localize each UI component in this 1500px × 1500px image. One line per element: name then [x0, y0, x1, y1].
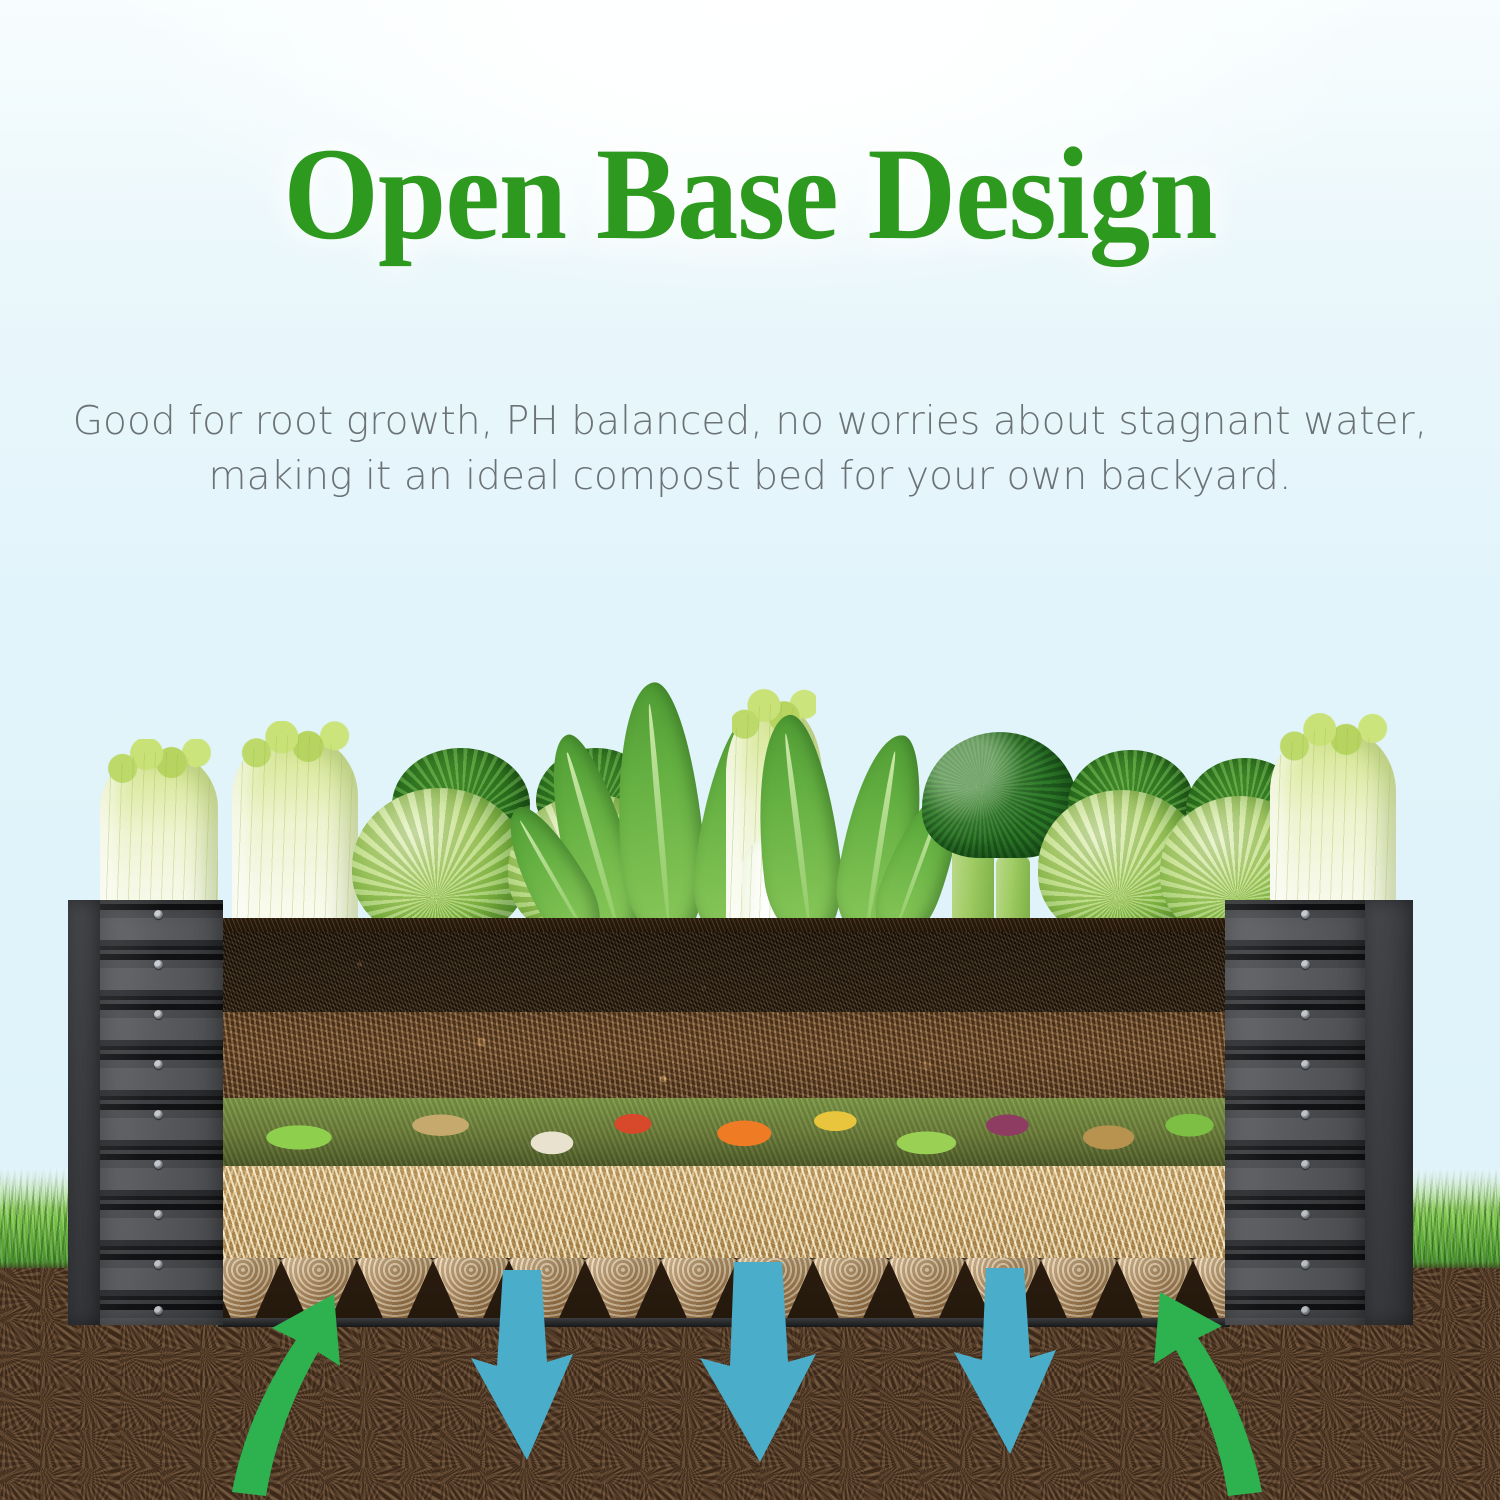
screw-icon [154, 1306, 163, 1315]
soil-layer-kitchen-scraps [218, 1098, 1230, 1166]
drainage-arrow-down-1 [455, 1270, 585, 1500]
soil-layer-straw [218, 1166, 1230, 1258]
screw-icon [154, 1110, 163, 1119]
drainage-arrow-down-3 [940, 1268, 1070, 1498]
screw-icon [1301, 1210, 1310, 1219]
corner-post-left-face [100, 900, 223, 1325]
corner-post-right-face [1225, 900, 1367, 1325]
screw-icon [154, 910, 163, 919]
soil-layer-compost [218, 1012, 1230, 1098]
screw-icon [154, 1260, 163, 1269]
screw-icon [1301, 1060, 1310, 1069]
screw-icon [1301, 1160, 1310, 1169]
airflow-arrow-up-left [222, 1288, 372, 1500]
screw-icon [1301, 1010, 1310, 1019]
corner-post-left-side [68, 900, 102, 1325]
screw-icon [154, 1210, 163, 1219]
airflow-arrow-up-right [1110, 1286, 1270, 1500]
screw-icon [154, 1010, 163, 1019]
soil-layer-topsoil [218, 932, 1230, 1012]
corner-post-left [68, 900, 223, 1325]
screw-icon [1301, 1306, 1310, 1315]
infographic-canvas: Open Base Design Good for root growth, P… [0, 0, 1500, 1500]
screw-icon [1301, 1110, 1310, 1119]
screw-icon [154, 1160, 163, 1169]
corner-post-right-side [1365, 900, 1413, 1325]
screw-icon [154, 960, 163, 969]
screw-icon [1301, 1260, 1310, 1269]
drainage-arrow-down-2 [690, 1262, 830, 1500]
screw-icon [1301, 960, 1310, 969]
screw-icon [154, 1060, 163, 1069]
screw-icon [1301, 910, 1310, 919]
corner-post-right [1225, 900, 1413, 1325]
